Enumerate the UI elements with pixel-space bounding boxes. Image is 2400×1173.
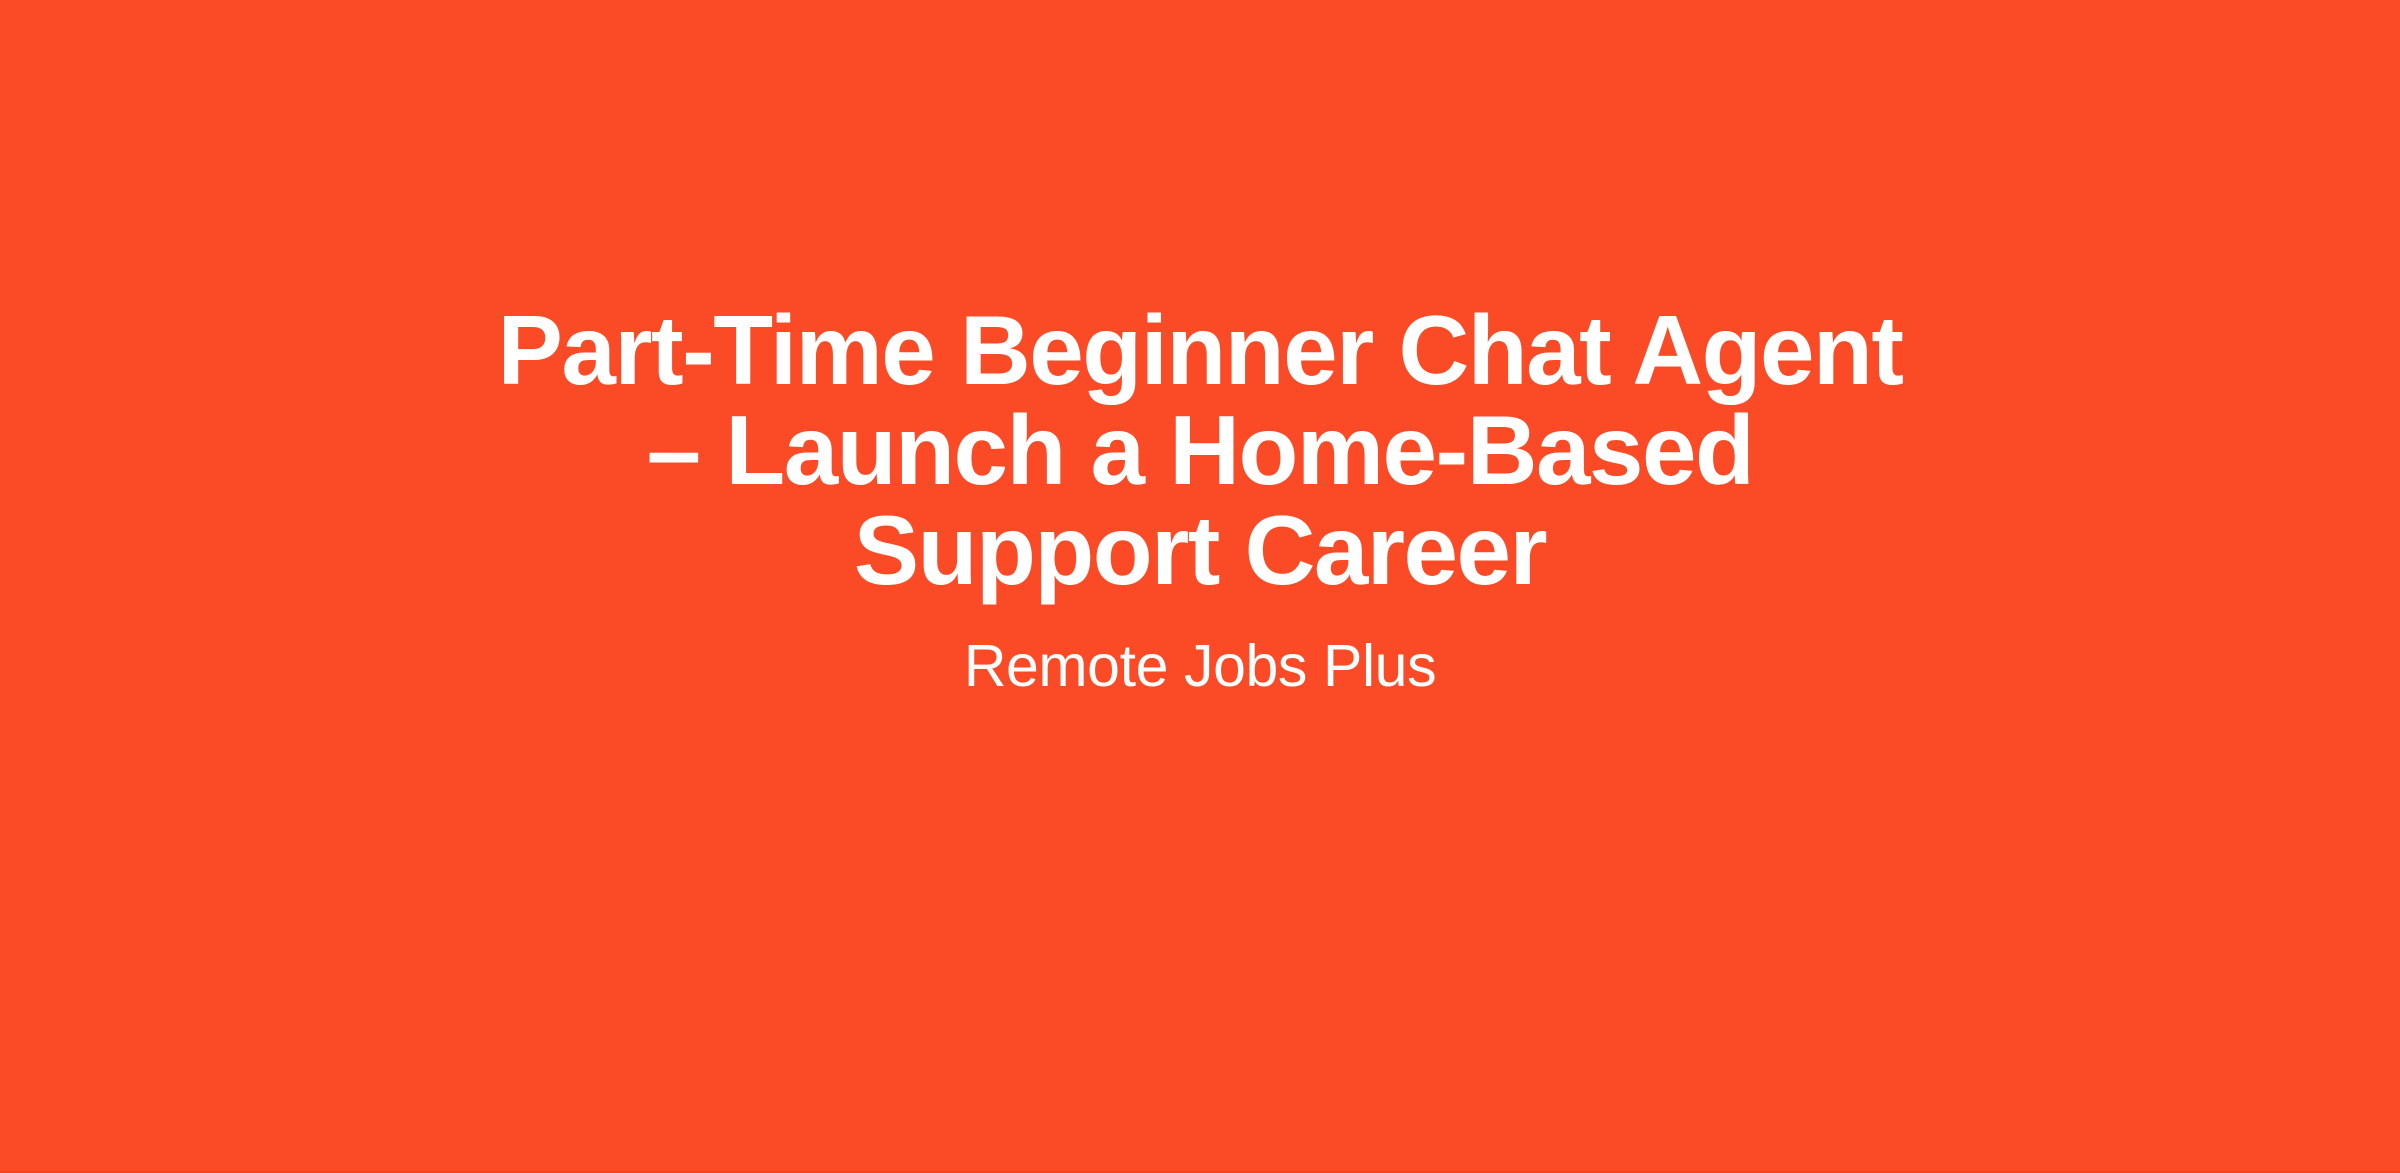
page-title: Part-Time Beginner Chat Agent – Launch a… bbox=[498, 300, 1903, 600]
hero-banner: Part-Time Beginner Chat Agent – Launch a… bbox=[0, 0, 2400, 1173]
page-title-line-3: Support Career bbox=[498, 500, 1903, 600]
hero-content: Part-Time Beginner Chat Agent – Launch a… bbox=[320, 300, 2080, 702]
page-title-line-1: Part-Time Beginner Chat Agent bbox=[498, 300, 1903, 400]
brand-subtitle: Remote Jobs Plus bbox=[964, 630, 1436, 702]
page-title-line-2: – Launch a Home-Based bbox=[498, 400, 1903, 500]
